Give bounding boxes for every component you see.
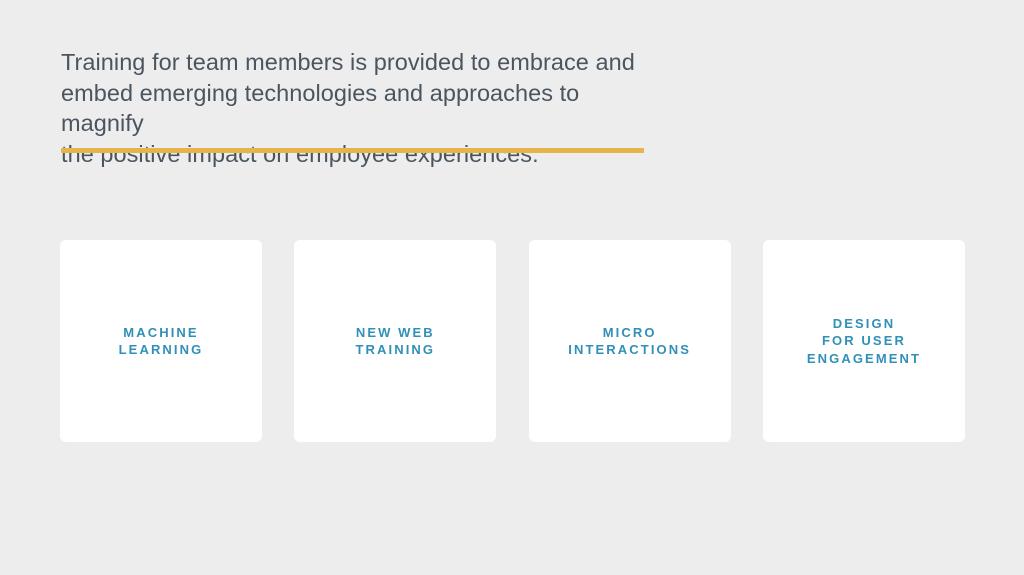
- topic-card-label: NEW WEB TRAINING: [356, 324, 436, 359]
- topic-card-label: MACHINE LEARNING: [119, 324, 204, 359]
- topic-card-new-web-training[interactable]: NEW WEB TRAINING: [294, 240, 496, 442]
- topic-card-design-for-user-engagement[interactable]: DESIGN FOR USER ENGAGEMENT: [763, 240, 965, 442]
- topic-card-row: MACHINE LEARNING NEW WEB TRAINING MICRO …: [60, 240, 965, 442]
- topic-card-label: MICRO INTERACTIONS: [568, 324, 691, 359]
- topic-card-machine-learning[interactable]: MACHINE LEARNING: [60, 240, 262, 442]
- presentation-slide: Training for team members is provided to…: [0, 0, 1024, 575]
- topic-card-micro-interactions[interactable]: MICRO INTERACTIONS: [529, 240, 731, 442]
- headline-accent-rule: [61, 148, 644, 153]
- topic-card-label: DESIGN FOR USER ENGAGEMENT: [807, 315, 921, 368]
